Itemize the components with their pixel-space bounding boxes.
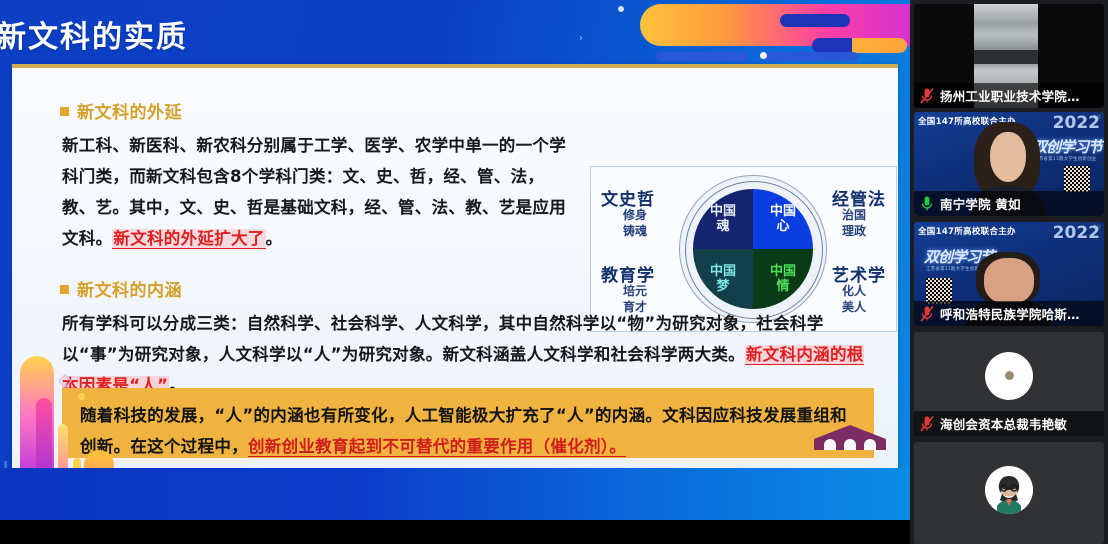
section-paragraph-1: 新工科、新医科、新农科分别属于工学、医学、农学中单一的一个学科门类，而新文科包含… [62,130,567,254]
deco-pill-gradient [812,38,907,53]
blank-avatar [985,352,1033,400]
avatar-face-2 [990,132,1026,182]
participant-tile-4[interactable]: 海创会资本总裁韦艳敏 [914,332,1104,436]
deco-pill-blue-1 [780,14,850,27]
qr-code-2 [1064,166,1090,192]
diagram-sublabel-wsz: 修身铸魂 [623,207,647,239]
deco-dot-yellow [78,393,85,400]
backdrop-logo-2: 双创学习节 [1032,136,1102,157]
participant-name-3: 呼和浩特民族学院哈斯… [940,304,1080,323]
callout-text: 随着科技的发展，“人”的内涵也有所变化，人工智能极大扩充了“人”的内涵。文科因应… [80,400,860,462]
deco-dot-1 [618,6,624,12]
deco-diamond-small-icon [58,374,72,388]
orange-callout-box: 随着科技的发展，“人”的内涵也有所变化，人工智能极大扩充了“人”的内涵。文科因应… [62,388,874,458]
header-decoration [580,0,910,72]
diagram-sublabel-jgf: 治国理政 [842,207,866,239]
meeting-screen: 新文科的实质 新文科的外延 新工科、新医科、新农科分别属于工学、医学、农学中单一… [0,0,1108,544]
participant-tile-2[interactable]: 会议 全国147所高校联合主办 2022 双创学习节 江苏省第11期大学生创新创… [914,112,1104,216]
deco-dot-3 [760,52,767,59]
deco-pill-large [640,4,910,46]
participant-name-4: 海创会资本总裁韦艳敏 [940,414,1067,433]
participant-tile-3[interactable]: 会议 全国147所高校联合主办 2022 双创学习节 江苏省第11期大学生创新创… [914,222,1104,326]
mic-muted-icon [920,305,934,322]
mic-muted-icon [920,87,934,104]
participant-namebar-2: 南宁学院 黄如 [914,191,1104,216]
callout-highlight: 创新创业教育起到不可替代的重要作用（催化剂）。 [248,437,626,457]
mic-on-icon [920,195,934,212]
arch-logo-icon [808,424,892,452]
quadrant-zhongguomeng: 中国梦 [693,249,753,309]
backdrop-sub-2: 江苏省第11期大学生创新创业 [1034,156,1097,162]
diagram-outer-ring: 中国魂 中国心 中国梦 中国情 [679,175,827,323]
highlight-text-1: 新文科的外延扩大了 [112,229,265,249]
section-heading-2: 新文科的内涵 [60,276,182,301]
participant-name-2: 南宁学院 黄如 [940,194,1021,213]
square-bullet-icon [60,285,69,294]
shared-screen-slide[interactable]: 新文科的实质 新文科的外延 新工科、新医科、新农科分别属于工学、医学、农学中单一… [0,0,910,544]
participant-video-rail[interactable]: 扬州工业职业技术学院… 会议 全国147所高校联合主办 2022 双创学习节 江… [910,0,1108,544]
participant-tile-5[interactable] [914,442,1104,544]
participant-name-1: 扬州工业职业技术学院… [940,86,1080,105]
backdrop-year-2: 2022 [1053,113,1100,133]
quadrant-zhongguoqing: 中国情 [753,249,813,309]
square-bullet-icon [60,107,69,116]
participant-tile-1[interactable]: 扬州工业职业技术学院… [914,4,1104,108]
slide-title: 新文科的实质 [0,12,188,56]
person-avatar [985,466,1033,514]
deco-diamond-icon [580,30,582,47]
deco-pill-blue-2 [656,52,748,61]
slide-canvas: 新文科的实质 新文科的外延 新工科、新医科、新农科分别属于工学、医学、农学中单一… [0,0,910,520]
participant-namebar-3: 呼和浩特民族学院哈斯… [914,301,1104,326]
backdrop-title-3: 全国147所高校联合主办 [918,225,1016,237]
slide-footer-strip [0,468,910,520]
diagram-quadrant-circle: 中国魂 中国心 中国梦 中国情 [693,189,813,309]
person-avatar-icon [985,466,1033,514]
avatar-face-3 [984,258,1034,304]
mic-muted-icon [920,415,934,432]
quadrant-zhongguoxin: 中国心 [753,189,813,249]
participant-namebar-4: 海创会资本总裁韦艳敏 [914,411,1104,436]
deco-pill-blue-3 [766,52,858,61]
quadrant-zhongguohun: 中国魂 [693,189,753,249]
participant-namebar-1: 扬州工业职业技术学院… [914,83,1104,108]
university-logo [808,424,892,464]
section-heading-1: 新文科的外延 [60,98,182,123]
backdrop-year-3: 2022 [1053,223,1100,243]
